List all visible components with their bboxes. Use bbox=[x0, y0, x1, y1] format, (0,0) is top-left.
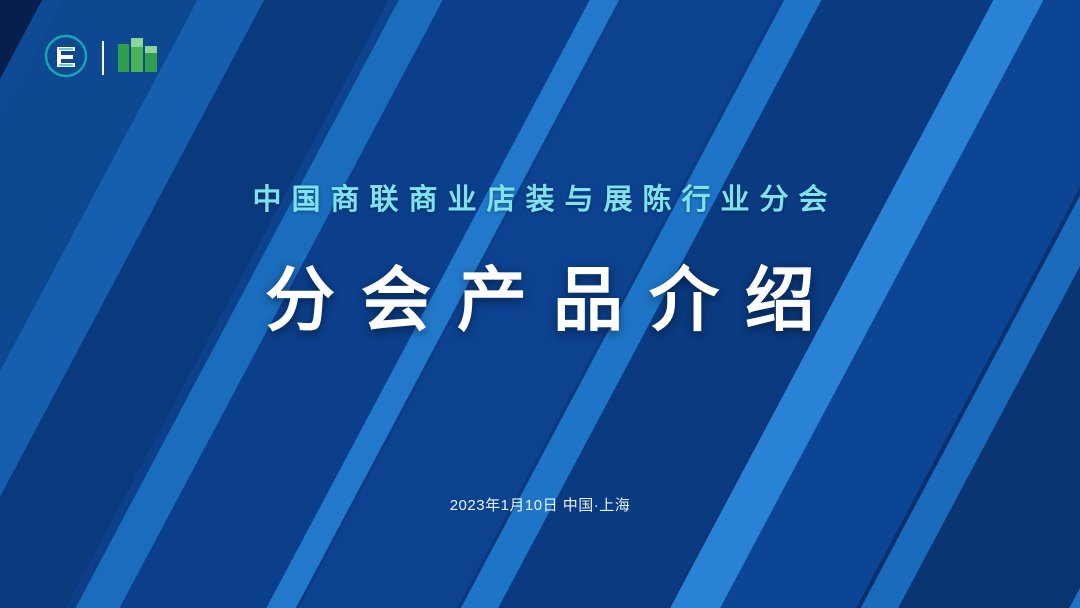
slide-title: 分会产品介绍 bbox=[0, 244, 1080, 345]
presentation-slide: 中国商联商业店装与展陈行业分会 分会产品介绍 2023年1月10日 中国·上海 bbox=[0, 0, 1080, 608]
vertical-divider-icon bbox=[102, 41, 104, 75]
slide-subtitle: 中国商联商业店装与展陈行业分会 bbox=[0, 176, 1080, 218]
circular-seal-logo-icon bbox=[44, 34, 88, 83]
slide-date-location: 2023年1月10日 中国·上海 bbox=[0, 494, 1080, 515]
logo bbox=[44, 30, 159, 86]
green-blocks-logo-icon bbox=[117, 34, 159, 83]
title-block: 中国商联商业店装与展陈行业分会 分会产品介绍 bbox=[0, 176, 1080, 345]
